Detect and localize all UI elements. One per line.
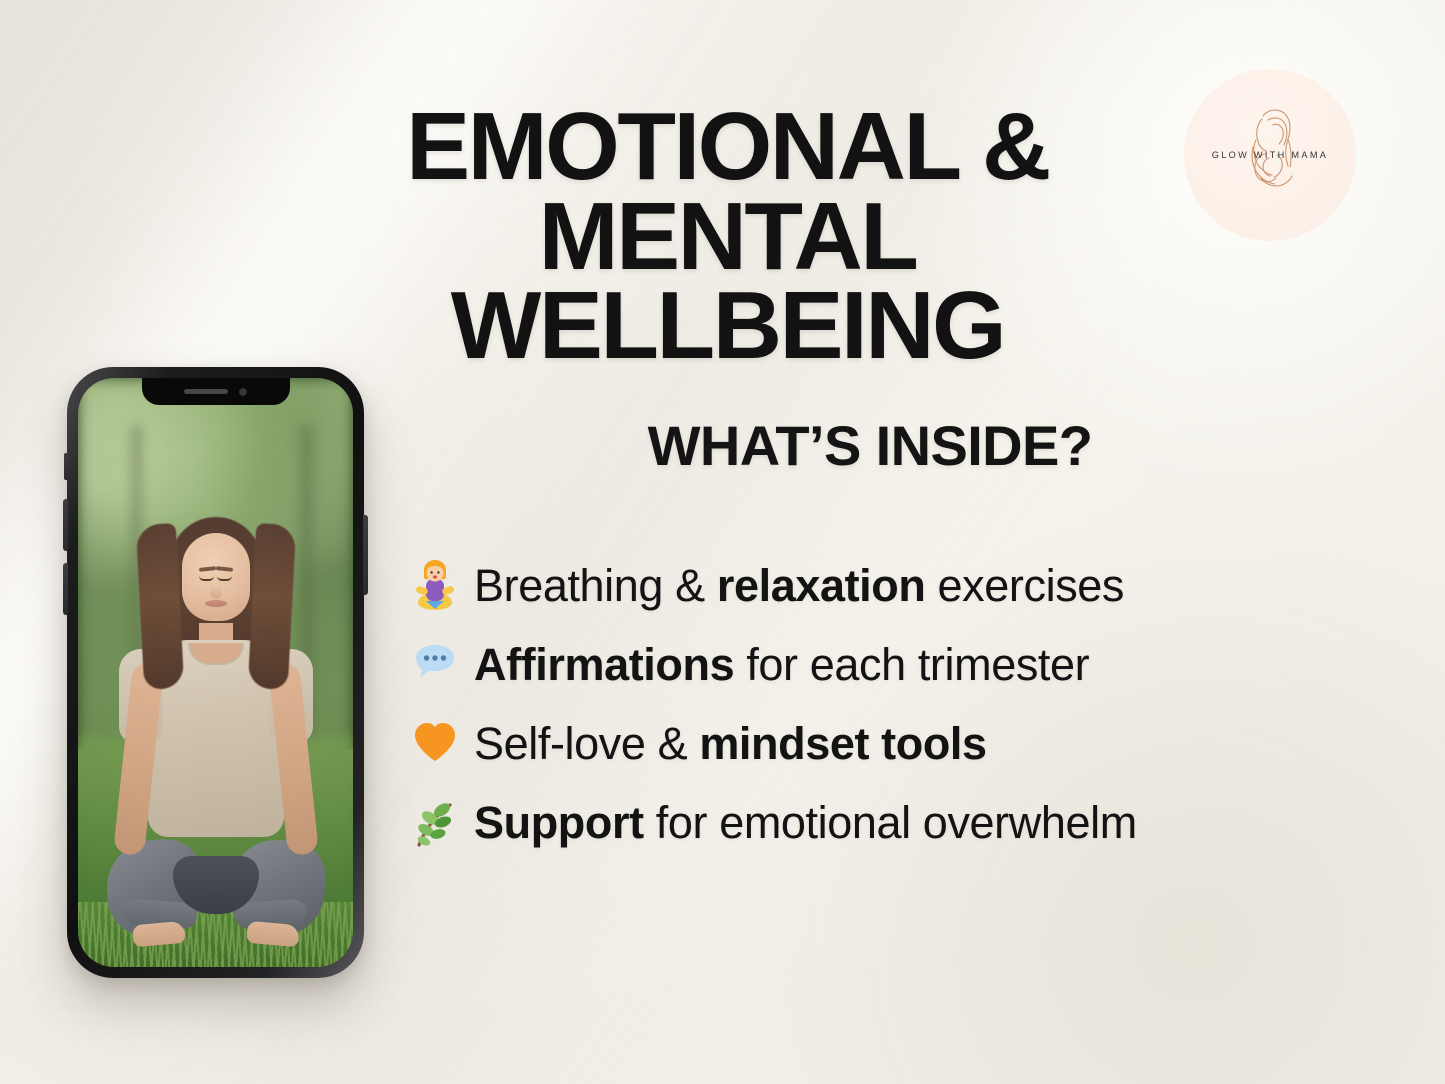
page-title-line-2: MENTAL (355, 192, 1100, 281)
volume-up-button[interactable] (63, 499, 68, 551)
phone-screen (78, 378, 353, 967)
list-item-label: Breathing & relaxation exercises (474, 563, 1124, 608)
woman-in-lotus-position-icon (412, 559, 458, 613)
list-item-label: Affirmations for each trimester (474, 642, 1089, 687)
page-title-line-3: WELLBEING (355, 281, 1100, 370)
closed-eye-right (217, 576, 232, 581)
list-item: Support for emotional overwhelm (412, 783, 1422, 862)
silent-switch-button[interactable] (64, 453, 68, 480)
list-item-tail: for each trimester (734, 639, 1089, 690)
page-title: EMOTIONAL & MENTAL WELLBEING (355, 102, 1100, 370)
list-item: Self-love & mindset tools (412, 704, 1422, 783)
speech-balloon-icon (412, 638, 458, 692)
speech-balloon-glyph (412, 638, 458, 692)
earpiece-speaker-icon (184, 389, 228, 394)
list-item-bold: Support (474, 797, 644, 848)
woman-figure (117, 502, 315, 950)
page-title-line-1: EMOTIONAL & (355, 102, 1100, 191)
list-item-bold: Affirmations (474, 639, 734, 690)
list-item-lead: Self-love & (474, 718, 699, 769)
hair-front-left (135, 523, 184, 690)
front-camera-icon (239, 388, 247, 396)
whats-inside-heading: WHAT’S INSIDE? (430, 413, 1310, 478)
orange-heart-icon (412, 717, 458, 771)
foot-right (246, 921, 300, 947)
power-button[interactable] (363, 515, 368, 595)
list-item: Breathing & relaxation exercises (412, 546, 1422, 625)
herb-icon (412, 796, 458, 850)
herb-glyph (412, 796, 458, 850)
feature-list: Breathing & relaxation exercises Affirma… (412, 546, 1422, 862)
phone-mockup (67, 367, 364, 978)
volume-down-button[interactable] (63, 563, 68, 615)
brand-name: GLOW WITH MAMA (1195, 150, 1345, 160)
brand-logo-badge: GLOW WITH MAMA (1184, 69, 1356, 241)
list-item-lead: Breathing & (474, 560, 717, 611)
list-item-tail: for emotional overwhelm (644, 797, 1137, 848)
closed-eye-left (199, 576, 214, 581)
eyebrow-right (215, 566, 232, 571)
hair-front-right (247, 523, 296, 690)
brand-logo-inner: GLOW WITH MAMA (1195, 95, 1345, 215)
woman-in-lotus-position-glyph (412, 559, 458, 613)
orange-heart-glyph (412, 717, 458, 771)
promo-graphic-canvas: EMOTIONAL & MENTAL WELLBEING (0, 0, 1445, 1084)
list-item-label: Support for emotional overwhelm (474, 800, 1137, 845)
list-item-bold: relaxation (717, 560, 926, 611)
list-item-label: Self-love & mindset tools (474, 721, 987, 766)
head (182, 533, 250, 621)
phone-notch (142, 378, 290, 405)
foot-left (132, 921, 186, 947)
list-item-bold: mindset tools (699, 718, 986, 769)
mouth (205, 600, 227, 607)
meditating-woman-photo (78, 378, 353, 967)
eyebrow-left (198, 566, 215, 571)
nose (210, 584, 221, 599)
list-item: Affirmations for each trimester (412, 625, 1422, 704)
list-item-tail: exercises (925, 560, 1124, 611)
